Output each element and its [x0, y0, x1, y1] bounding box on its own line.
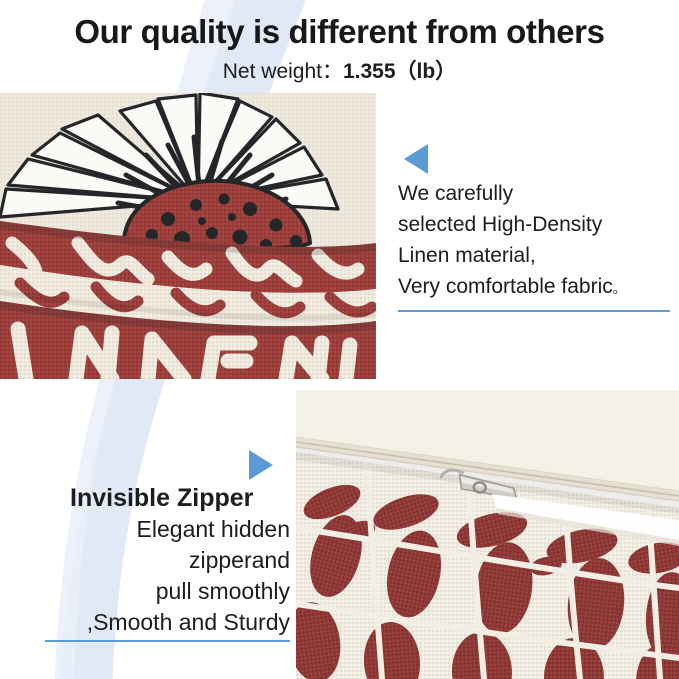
callout-zipper: Invisible Zipper Elegant hidden zipperan… — [18, 482, 290, 638]
triangle-right-icon — [249, 450, 273, 480]
cjk-full-stop: 。 — [613, 281, 626, 296]
callout-zipper-line-2: zipperand — [18, 545, 290, 576]
callout-zipper-line-4: ,Smooth and Sturdy — [18, 607, 290, 638]
callout-zipper-line-3: pull smoothly — [18, 576, 290, 607]
callout-fabric-line-4-text: Very comfortable fabric — [398, 275, 613, 298]
zipper-illustration — [296, 390, 679, 679]
net-weight-line: Net weight：1.355（lb） — [0, 59, 679, 85]
net-weight-value: 1.355 — [343, 60, 396, 83]
callout-fabric: We carefully selected High-Density Linen… — [398, 178, 676, 304]
fabric-stack-illustration — [0, 93, 376, 379]
net-weight-unit: （lb） — [396, 60, 457, 83]
page-title: Our quality is different from others — [0, 12, 679, 52]
callout-fabric-line-1: We carefully — [398, 178, 676, 209]
header: Our quality is different from others Net… — [0, 12, 679, 85]
photo-fabric-stack — [0, 93, 376, 379]
callout-fabric-line-4: Very comfortable fabric。 — [398, 271, 676, 304]
callout-zipper-heading: Invisible Zipper — [18, 482, 290, 514]
product-infographic: Our quality is different from others Net… — [0, 0, 679, 679]
net-weight-label: Net weight： — [223, 60, 343, 83]
callout-zipper-line-1: Elegant hidden — [18, 514, 290, 545]
photo-zipper — [296, 390, 679, 679]
callout-fabric-line-3: Linen material, — [398, 240, 676, 271]
callout-fabric-line-2: selected High-Density — [398, 209, 676, 240]
divider-zipper — [45, 640, 290, 642]
divider-fabric — [398, 310, 670, 312]
triangle-left-icon — [404, 144, 428, 174]
